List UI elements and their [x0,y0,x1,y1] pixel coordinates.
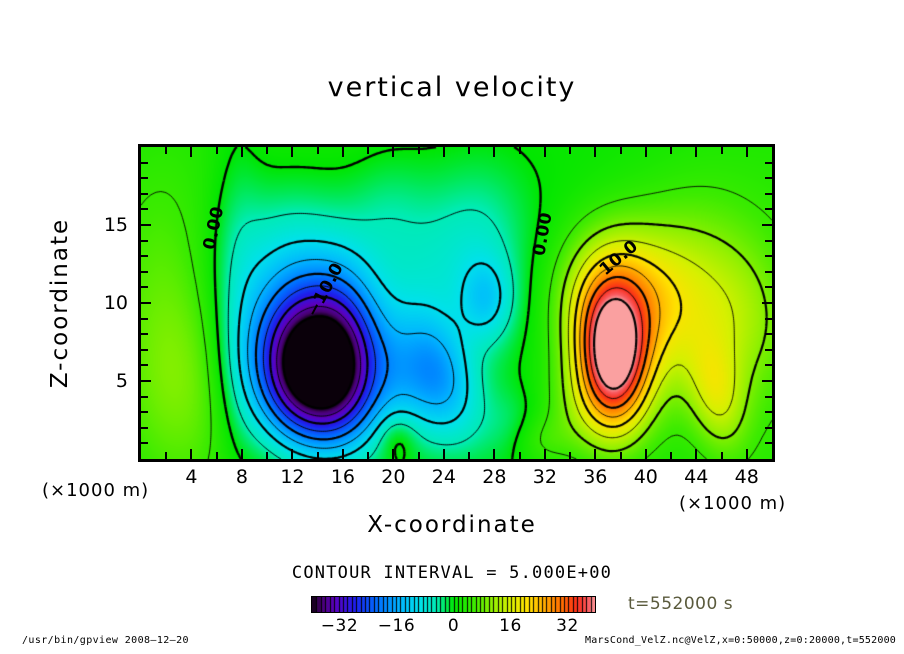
x-axis-tick [721,452,723,459]
x-axis-tick-top [721,147,723,154]
colorbar-tick-label: −32 [315,616,365,636]
x-unit-label-left: (×1000 m) [42,480,149,501]
contour-plot-frame [138,144,775,462]
y-axis-tick [141,411,148,413]
y-axis-tick-right [762,380,772,382]
y-axis-tick [141,396,148,398]
y-axis-tick-right [762,224,772,226]
x-axis-tick-top [241,147,243,157]
colorbar-tick-label: 32 [543,616,593,636]
y-axis-tick [141,333,148,335]
x-axis-tick-top [746,147,748,157]
x-axis-tick [468,452,470,459]
x-axis-tick [670,452,672,459]
y-axis-tick [141,302,151,304]
x-axis-tick [216,452,218,459]
x-axis-tick-top [443,147,445,157]
x-axis-tick [392,449,394,459]
y-axis-tick [141,364,148,366]
y-axis-tick-right [762,302,772,304]
x-axis-tick-top [645,147,647,157]
x-axis-tick-top [418,147,420,154]
y-axis-tick-label: 15 [88,214,128,236]
x-axis-tick [291,449,293,459]
x-axis-tick-label: 16 [321,466,365,488]
x-axis-tick-top [670,147,672,154]
x-axis-tick-top [266,147,268,154]
x-axis-tick [418,452,420,459]
x-axis-tick-top [695,147,697,157]
x-axis-tick-label: 44 [674,466,718,488]
x-axis-tick [519,452,521,459]
y-axis-tick-right [765,411,772,413]
x-unit-label-right: (×1000 m) [679,493,786,514]
colorbar [311,596,596,613]
x-axis-tick-top [544,147,546,157]
x-axis-tick [342,449,344,459]
colorbar-gradient [312,597,595,612]
colorbar-tick-label: 0 [429,616,479,636]
y-axis-tick-right [765,349,772,351]
y-axis-tick [141,255,148,257]
y-axis-tick-right [765,286,772,288]
y-axis-tick [141,286,148,288]
x-axis-tick [746,449,748,459]
y-axis-tick [141,380,151,382]
y-axis-tick [141,271,148,273]
y-axis-tick [141,177,148,179]
x-axis-tick [645,449,647,459]
time-label: t=552000 s [628,594,733,614]
x-axis-tick-top [468,147,470,154]
x-axis-tick-top [569,147,571,154]
x-axis-tick [190,449,192,459]
x-axis-tick-label: 24 [422,466,466,488]
x-axis-tick-top [342,147,344,157]
y-axis-tick-right [765,177,772,179]
x-axis-tick [443,449,445,459]
vertical-velocity-field [141,147,772,459]
colorbar-tick-label: 16 [486,616,536,636]
x-axis-tick-top [190,147,192,157]
x-axis-tick [594,449,596,459]
x-axis-tick-top [594,147,596,157]
x-axis-tick [569,452,571,459]
contour-interval-caption: CONTOUR INTERVAL = 5.000E+00 [0,563,904,583]
x-axis-tick-label: 28 [472,466,516,488]
x-axis-tick-top [493,147,495,157]
x-axis-tick [620,452,622,459]
y-axis-tick [141,240,148,242]
x-axis-tick [317,452,319,459]
x-axis-tick-top [291,147,293,157]
x-axis-tick-top [216,147,218,154]
y-axis-tick [141,162,148,164]
x-axis-tick-label: 32 [523,466,567,488]
x-axis-tick [266,452,268,459]
x-axis-tick-top [165,147,167,154]
y-axis-tick-right [765,333,772,335]
x-axis-tick [544,449,546,459]
y-axis-tick-label: 10 [88,292,128,314]
x-axis-tick [493,449,495,459]
x-axis-tick [367,452,369,459]
x-axis-tick [241,449,243,459]
y-axis-tick [141,318,148,320]
x-axis-tick-top [519,147,521,154]
x-axis-tick-label: 12 [270,466,314,488]
y-axis-tick [141,193,148,195]
y-axis-tick-label: 5 [88,370,128,392]
y-axis-tick-right [765,364,772,366]
y-axis-tick-right [765,427,772,429]
y-axis-tick-right [765,208,772,210]
y-axis-tick-right [765,255,772,257]
x-axis-tick-top [392,147,394,157]
y-axis-tick [141,442,148,444]
x-axis-tick-label: 8 [220,466,264,488]
x-axis-tick-label: 20 [371,466,415,488]
y-axis-tick-right [765,396,772,398]
x-axis-tick-label: 48 [725,466,769,488]
x-axis-tick [695,449,697,459]
x-axis-tick-top [317,147,319,154]
y-axis-tick-right [765,271,772,273]
y-axis-title: Z-coordinate [47,203,73,403]
x-axis-tick-label: 4 [169,466,213,488]
x-axis-tick-label: 40 [624,466,668,488]
y-axis-tick-right [765,240,772,242]
y-axis-tick [141,349,148,351]
x-axis-tick-top [620,147,622,154]
footer-command-stamp: /usr/bin/gpview 2008–12–20 [22,635,189,646]
y-axis-tick-right [765,318,772,320]
x-axis-title: X-coordinate [0,512,904,538]
page-title: vertical velocity [0,72,904,103]
y-axis-tick [141,224,151,226]
y-axis-tick-right [765,442,772,444]
y-axis-tick-right [765,162,772,164]
footer-datasource-stamp: MarsCond_VelZ.nc@VelZ,x=0:50000,z=0:2000… [585,635,896,646]
colorbar-tick-label: −16 [372,616,422,636]
x-axis-tick-label: 36 [573,466,617,488]
x-axis-tick-top [367,147,369,154]
y-axis-tick-right [765,193,772,195]
x-axis-tick [165,452,167,459]
y-axis-tick [141,427,148,429]
y-axis-tick [141,208,148,210]
